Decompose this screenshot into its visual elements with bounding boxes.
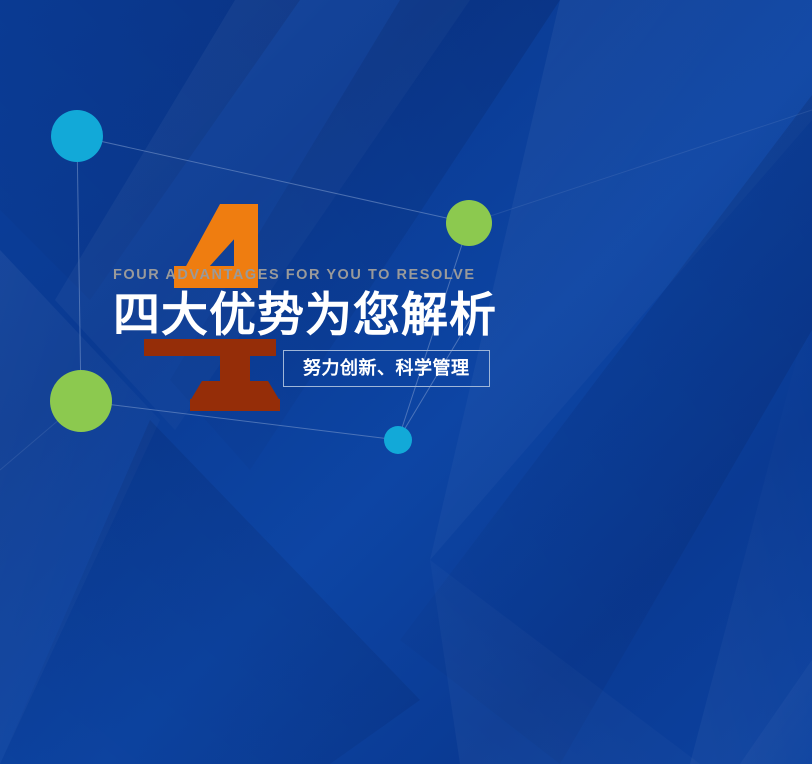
promo-banner: FOUR ADVANTAGES FOR YOU TO RESOLVE 四大优势为… (0, 0, 812, 764)
node-green-bottom-left (50, 370, 112, 432)
connector-line (469, 110, 812, 223)
headline-block: FOUR ADVANTAGES FOR YOU TO RESOLVE 四大优势为… (113, 268, 713, 339)
eyebrow-text: FOUR ADVANTAGES FOR YOU TO RESOLVE (113, 268, 713, 283)
connector-line (77, 136, 81, 401)
node-green-right (446, 200, 492, 246)
page-title: 四大优势为您解析 (113, 290, 713, 339)
tagline-badge: 努力创新、科学管理 (283, 350, 490, 387)
tagline-wrapper: 努力创新、科学管理 (283, 350, 490, 387)
node-cyan-bottom (384, 426, 412, 454)
node-cyan-top-left (51, 110, 103, 162)
